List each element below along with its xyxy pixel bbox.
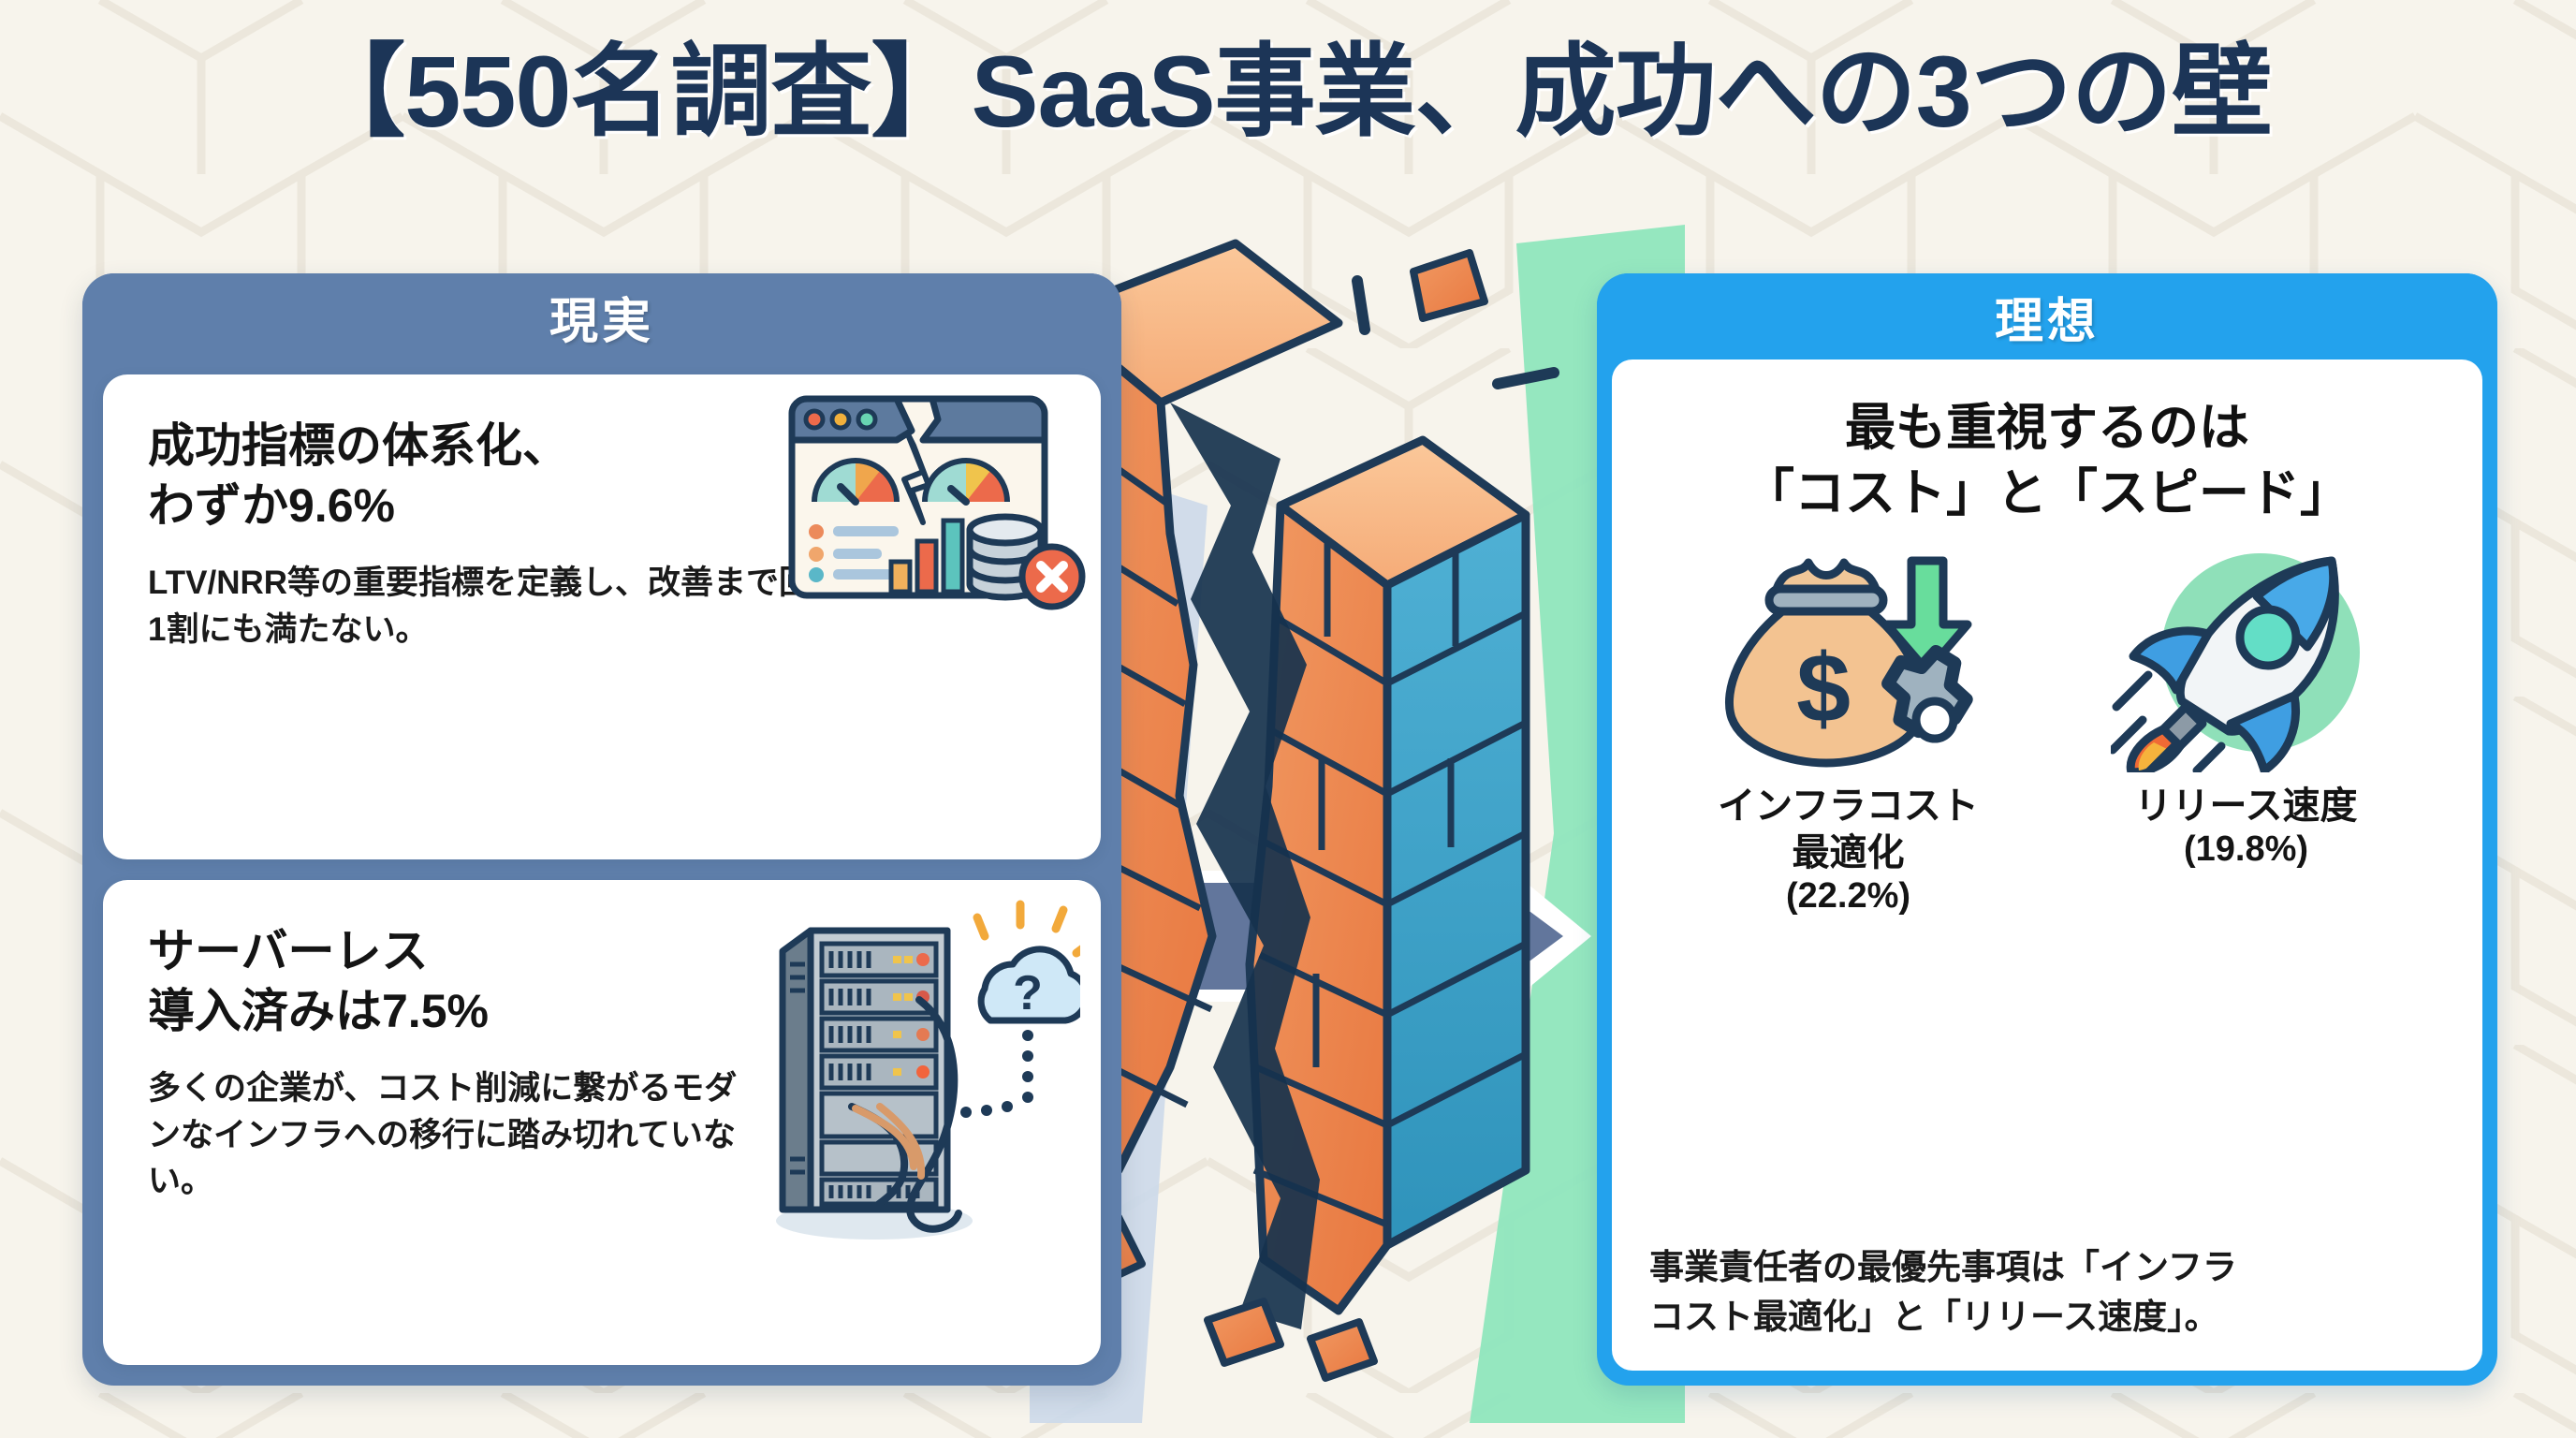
reality-card-title: サーバーレス 導入済みは7.5% <box>148 921 710 1041</box>
broken-dashboard-icon <box>783 382 1091 616</box>
ideal-panel: 理想 最も重視するのは 「コスト」と「スピード」 $ <box>1597 273 2497 1386</box>
reality-card-title: 成功指標の体系化、 わずか9.6% <box>148 416 710 536</box>
sparkle-rays <box>977 904 1080 953</box>
ideal-title-line2: 「コスト」と「スピード」 <box>1744 465 2350 521</box>
reality-card-title-line2: 導入済みは7.5% <box>148 985 489 1037</box>
reality-panel-header: 現実 <box>82 273 1121 359</box>
rocket-icon <box>2111 548 2382 772</box>
ideal-stat: $ インフラコスト 最適化 <box>1661 543 2036 917</box>
reality-card: サーバーレス 導入済みは7.5% 多くの企業が、コスト削減に繋がるモダンなインフ… <box>103 880 1101 1365</box>
stat-icon-slot: $ <box>1661 543 2036 777</box>
cloud-question-icon: ? <box>960 904 1080 1118</box>
dollar-sign: $ <box>1796 635 1851 743</box>
svg-text:?: ? <box>1013 966 1043 1020</box>
reality-card: 成功指標の体系化、 わずか9.6% LTV/NRR等の重要指標を定義し、改善まで… <box>103 374 1101 859</box>
window-dots <box>806 411 875 428</box>
money-bag-down-arrow-gear-icon: $ <box>1704 548 1994 772</box>
stat-label-line1: リリース速度 <box>2135 785 2358 827</box>
reality-card-title-line1: 成功指標の体系化、 <box>148 419 569 472</box>
ideal-content: 最も重視するのは 「コスト」と「スピード」 $ <box>1612 359 2482 1371</box>
stat-label-line2: 最適化 <box>1793 832 1905 873</box>
ideal-title: 最も重視するのは 「コスト」と「スピード」 <box>1649 395 2445 526</box>
reality-card-body: 多くの企業が、コスト削減に繋がるモダンなインフラへの移行に踏み切れていない。 <box>148 1065 747 1205</box>
server-rack-icon: ? <box>762 899 1080 1255</box>
ideal-title-line1: 最も重視するのは <box>1845 400 2249 456</box>
reality-panel: 現実 成功指標の体系化、 わずか9.6% LTV/NRR等の重要指標を定義し、改… <box>82 273 1121 1386</box>
stat-icon-slot <box>2059 543 2434 777</box>
ideal-footer-line2: コスト最適化」と「リリース速度」。 <box>1649 1298 2219 1336</box>
error-badge <box>1022 547 1082 607</box>
reality-card-title-line2: わずか9.6% <box>148 479 395 532</box>
stat-value: (22.2%) <box>1661 876 2036 917</box>
cracked-brick-wall-illustration <box>1030 225 1685 1423</box>
reality-card-title-line1: サーバーレス <box>148 925 429 977</box>
stat-value: (19.8%) <box>2059 829 2434 870</box>
reality-card-list: 成功指標の体系化、 わずか9.6% LTV/NRR等の重要指標を定義し、改善まで… <box>82 359 1121 1386</box>
stat-label: リリース速度 <box>2059 783 2434 829</box>
dotted-connector <box>960 1030 1033 1118</box>
gear-icon <box>1888 652 1967 739</box>
page-title: 【550名調査】SaaS事業、成功への3つの壁 <box>0 34 2576 150</box>
ideal-stat-list: $ インフラコスト 最適化 <box>1649 543 2445 917</box>
ideal-footer-note: 事業責任者の最優先事項は「インフラ コスト最適化」と「リリース速度」。 <box>1649 1242 2445 1343</box>
stat-label: インフラコスト 最適化 <box>1661 783 2036 876</box>
ideal-stat: リリース速度 (19.8%) <box>2059 543 2434 870</box>
stat-label-line1: インフラコスト <box>1718 785 1979 827</box>
ideal-panel-header: 理想 <box>1597 273 2497 359</box>
ideal-footer-line1: 事業責任者の最優先事項は「インフラ <box>1649 1248 2237 1286</box>
crack <box>1170 403 1320 1329</box>
